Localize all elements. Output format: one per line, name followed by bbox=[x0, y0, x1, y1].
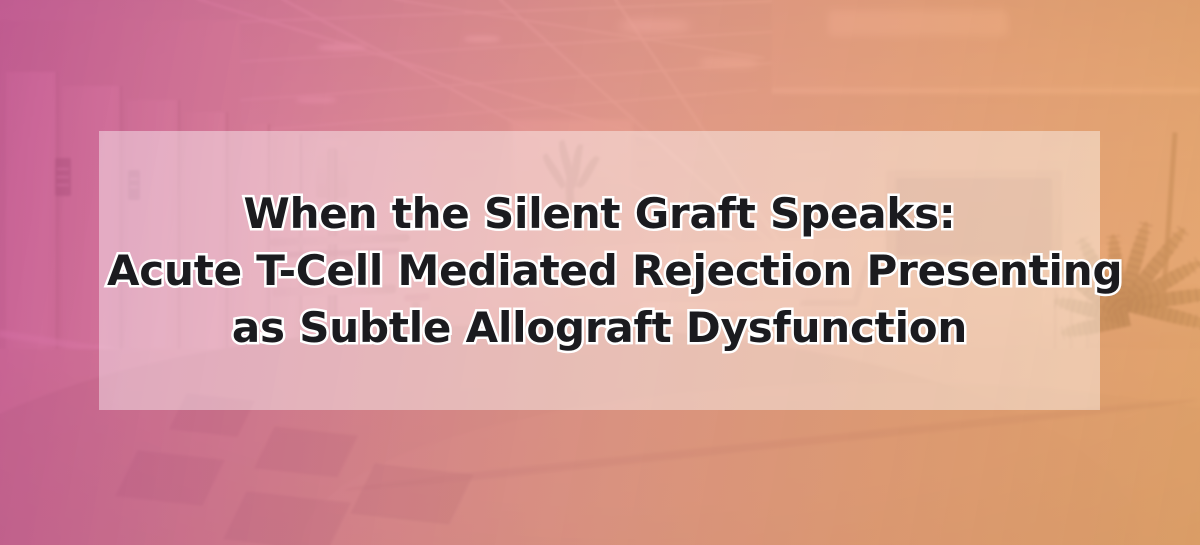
title-line-3: as Subtle Allograft Dysfunction bbox=[107, 299, 1092, 356]
title-line-2: Acute T-Cell Mediated Rejection Presenti… bbox=[107, 242, 1092, 299]
title-line-1: When the Silent Graft Speaks: bbox=[107, 185, 1092, 242]
title-overlay-panel: When the Silent Graft Speaks: Acute T-Ce… bbox=[99, 131, 1100, 410]
page-title: When the Silent Graft Speaks: Acute T-Ce… bbox=[99, 185, 1100, 356]
article-title-banner: When the Silent Graft Speaks: Acute T-Ce… bbox=[0, 0, 1200, 545]
